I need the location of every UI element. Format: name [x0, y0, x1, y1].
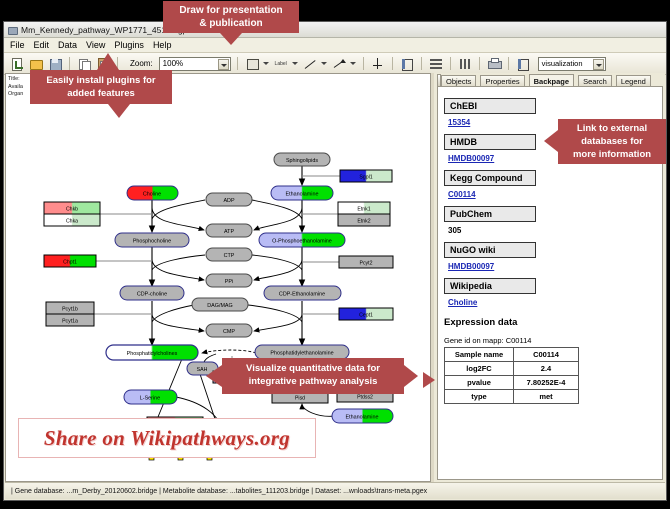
callout-arrow-down-icon — [220, 33, 242, 45]
zoom-label: Zoom: — [130, 59, 153, 68]
node-label: Choline — [143, 192, 161, 198]
menu-item-file[interactable]: File — [10, 40, 25, 50]
chevron-down-icon[interactable] — [350, 57, 357, 70]
anchor-icon[interactable] — [370, 56, 386, 72]
gene-chpt1[interactable]: Chpt1 — [44, 255, 96, 267]
node-label: ADP — [223, 198, 234, 204]
toolbar-separator — [237, 57, 238, 70]
node-label: Sgpl1 — [359, 175, 372, 181]
node-label: Etnk1 — [357, 207, 370, 213]
table-row: Sample name C00114 — [445, 348, 579, 362]
db-header-hmdb: HMDB — [444, 134, 536, 150]
chevron-down-icon[interactable] — [593, 59, 604, 70]
menu-item-plugins[interactable]: Plugins — [114, 40, 144, 50]
status-text: | Gene database: ...m_Derby_20120602.bri… — [5, 488, 427, 495]
distribute-icon[interactable] — [457, 56, 473, 72]
db-header-wikipedia: Wikipedia — [444, 278, 536, 294]
expression-data-table: Sample name C00114 log2FC 2.4 pvalue 7.8… — [444, 347, 579, 404]
toolbar-separator — [479, 57, 480, 70]
gene-etnk1[interactable]: Etnk1 — [338, 202, 390, 214]
share-banner-text: Share on Wikipathways.org — [44, 426, 290, 451]
print-icon[interactable] — [486, 56, 502, 72]
row-key: Sample name — [445, 348, 514, 362]
metabolite-ppi[interactable]: PPi — [206, 274, 252, 287]
sidebar-icon[interactable] — [515, 56, 531, 72]
expression-data-title: Expression data — [444, 317, 658, 328]
callout-arrow-left-icon — [544, 130, 558, 152]
chevron-down-icon[interactable] — [263, 57, 270, 70]
row-value: 2.4 — [514, 362, 579, 376]
gene-chka[interactable]: Chka — [44, 214, 100, 226]
visualization-value: visualization — [542, 59, 583, 68]
new-file-icon[interactable] — [9, 56, 25, 72]
row-key: log2FC — [445, 362, 514, 376]
db-link-nugo-wiki[interactable]: HMDB00097 — [448, 262, 658, 271]
node-label: CTP — [224, 253, 235, 259]
metabolite-sphingolipids[interactable]: Sphingolipids — [274, 153, 330, 166]
metabolite-ethanolamine-top[interactable]: Ethanolamine — [271, 186, 333, 200]
pathvisio-icon — [7, 25, 17, 35]
callout-line-2: added features — [30, 87, 172, 100]
callout-visualize-quantitative-data: Visualize quantitative data for integrat… — [222, 358, 404, 394]
toolbar-separator — [363, 57, 364, 70]
db-header-nugo-wiki: NuGO wiki — [444, 242, 536, 258]
node-label: Phosphatidylethanolamine — [270, 351, 333, 357]
toolbar-separator — [508, 57, 509, 70]
metabolite-choline-top[interactable]: Choline — [127, 186, 178, 200]
callout-draw-for-presentation: Draw for presentation & publication — [163, 1, 299, 33]
row-key: type — [445, 390, 514, 404]
metabolite-phosphocholine[interactable]: Phosphocholine — [115, 233, 189, 247]
toolbar-separator — [392, 57, 393, 70]
callout-line-3: more information — [558, 148, 666, 161]
callout-line-1: Draw for presentation — [163, 4, 299, 17]
status-bar: | Gene database: ...m_Derby_20120602.bri… — [5, 482, 665, 499]
metabolite-atp[interactable]: ATP — [206, 224, 252, 237]
bracket-icon[interactable] — [399, 56, 415, 72]
node-label: Ethanolamine — [286, 192, 319, 198]
node-label: Pcyt1b — [62, 307, 78, 313]
callout-arrow-left-icon — [206, 365, 222, 387]
callout-line-2: & publication — [163, 17, 299, 30]
row-value: met — [514, 390, 579, 404]
menu-bar: File Edit Data View Plugins Help — [4, 38, 666, 53]
node-label: CDP-choline — [137, 292, 167, 298]
callout-line-1: Easily install plugins for — [30, 74, 172, 87]
db-value-pubchem: 305 — [448, 226, 658, 235]
chevron-down-icon[interactable] — [321, 57, 328, 70]
node-label: DAG/MAG — [207, 303, 232, 309]
db-link-kegg-compound[interactable]: C00114 — [448, 190, 658, 199]
menu-item-help[interactable]: Help — [153, 40, 172, 50]
db-header-kegg-compound: Kegg Compound — [444, 170, 536, 186]
node-label: Pcyt1a — [62, 319, 78, 325]
callout-arrow-down-icon — [108, 104, 130, 118]
node-label: CDP-Ethanolamine — [279, 292, 325, 298]
node-label: Etnk2 — [357, 219, 370, 225]
toolbar-separator — [69, 57, 70, 70]
table-row: log2FC 2.4 — [445, 362, 579, 376]
node-label: Sphingolipids — [286, 158, 318, 164]
metabolite-l-serine-left[interactable]: L-Serine — [124, 390, 177, 404]
node-label: ATP — [224, 229, 234, 235]
gene-pcyt1b[interactable]: Pcyt1b — [46, 302, 94, 314]
table-row: type met — [445, 390, 579, 404]
callout-arrow-right-icon — [423, 372, 435, 388]
metabolite-phosphatidylcholines[interactable]: Phosphatidylcholines — [106, 345, 198, 360]
gene-cept1[interactable]: Cept1 — [339, 308, 393, 320]
node-label: Cept1 — [359, 313, 373, 319]
metabolite-cmp[interactable]: CMP — [206, 324, 252, 337]
align-icon[interactable] — [428, 56, 444, 72]
metabolite-adp[interactable]: ADP — [206, 193, 252, 206]
row-key: pvalue — [445, 376, 514, 390]
label-icon[interactable]: Label — [273, 56, 289, 72]
row-value: C00114 — [514, 348, 579, 362]
metabolite-o-phosphoethanolamine[interactable]: O-Phosphoethanolamine — [259, 233, 345, 247]
gene-pcyt1a[interactable]: Pcyt1a — [46, 314, 94, 326]
gene-pcyt2[interactable]: Pcyt2 — [339, 256, 393, 268]
title-bar: Mm_Kennedy_pathway_WP1771_45176.gpml — [4, 22, 666, 38]
callout-link-to-external-databases: Link to external databases for more info… — [558, 119, 666, 164]
zoom-combobox[interactable]: 100% — [159, 57, 231, 71]
metabolite-ethanolamine-bottom[interactable]: Ethanolamine — [332, 409, 393, 423]
visualization-combobox[interactable]: visualization — [538, 57, 606, 71]
toolbar-separator — [450, 57, 451, 70]
datanode-icon[interactable] — [244, 56, 260, 72]
line-icon[interactable] — [302, 56, 318, 72]
gene-sgpl1[interactable]: Sgpl1 — [340, 170, 392, 182]
gene-id-on-mapp: Gene id on mapp: C00114 — [444, 336, 658, 345]
gene-etnk2[interactable]: Etnk2 — [338, 214, 390, 226]
node-label: Chka — [66, 219, 78, 225]
node-label: PPi — [225, 279, 233, 285]
share-banner: Share on Wikipathways.org — [18, 418, 316, 458]
callout-arrow-right-icon — [404, 365, 418, 387]
menu-item-data[interactable]: Data — [58, 40, 77, 50]
node-label: Phosphocholine — [133, 239, 171, 245]
callout-easily-install-plugins: Easily install plugins for added feature… — [30, 70, 172, 104]
toolbar-separator — [421, 57, 422, 70]
chevron-down-icon[interactable] — [218, 59, 229, 70]
metabolite-cdp-ethanolamine[interactable]: CDP-Ethanolamine — [264, 286, 341, 300]
arrow-icon[interactable] — [331, 56, 347, 72]
node-label: Phosphatidylcholines — [127, 351, 178, 357]
callout-line-2: integrative pathway analysis — [222, 375, 404, 388]
db-header-chebi: ChEBI — [444, 98, 536, 114]
metabolite-ctp[interactable]: CTP — [206, 248, 252, 261]
node-label: Pisd — [295, 396, 305, 402]
db-header-pubchem: PubChem — [444, 206, 536, 222]
row-value: 7.80252E-4 — [514, 376, 579, 390]
screenshot-root: Mm_Kennedy_pathway_WP1771_45176.gpml Fil… — [0, 0, 670, 509]
node-label: Chpt1 — [63, 260, 77, 266]
chevron-down-icon[interactable] — [292, 57, 299, 70]
db-link-wikipedia[interactable]: Choline — [448, 298, 658, 307]
node-label: Chkb — [66, 207, 78, 213]
callout-arrow-up-icon — [97, 53, 119, 70]
node-label: O-Phosphoethanolamine — [272, 239, 332, 245]
node-label: CMP — [223, 329, 235, 335]
table-row: pvalue 7.80252E-4 — [445, 376, 579, 390]
menu-item-edit[interactable]: Edit — [34, 40, 50, 50]
callout-line-2: databases for — [558, 135, 666, 148]
zoom-value: 100% — [163, 59, 183, 68]
callout-line-1: Link to external — [558, 122, 666, 135]
node-label: Ptdss2 — [357, 395, 373, 401]
node-label: Ethanolamine — [346, 415, 379, 421]
gene-chkb[interactable]: Chkb — [44, 202, 100, 214]
metabolite-phosphatidylethanolamine[interactable]: Phosphatidylethanolamine — [255, 345, 349, 359]
node-label: Pcyt2 — [360, 261, 373, 267]
metabolite-cdp-choline[interactable]: CDP-choline — [120, 286, 184, 300]
callout-line-1: Visualize quantitative data for — [222, 362, 404, 375]
menu-item-view[interactable]: View — [86, 40, 105, 50]
node-label: L-Serine — [140, 396, 160, 402]
metabolite-dag-mag[interactable]: DAG/MAG — [192, 298, 248, 311]
